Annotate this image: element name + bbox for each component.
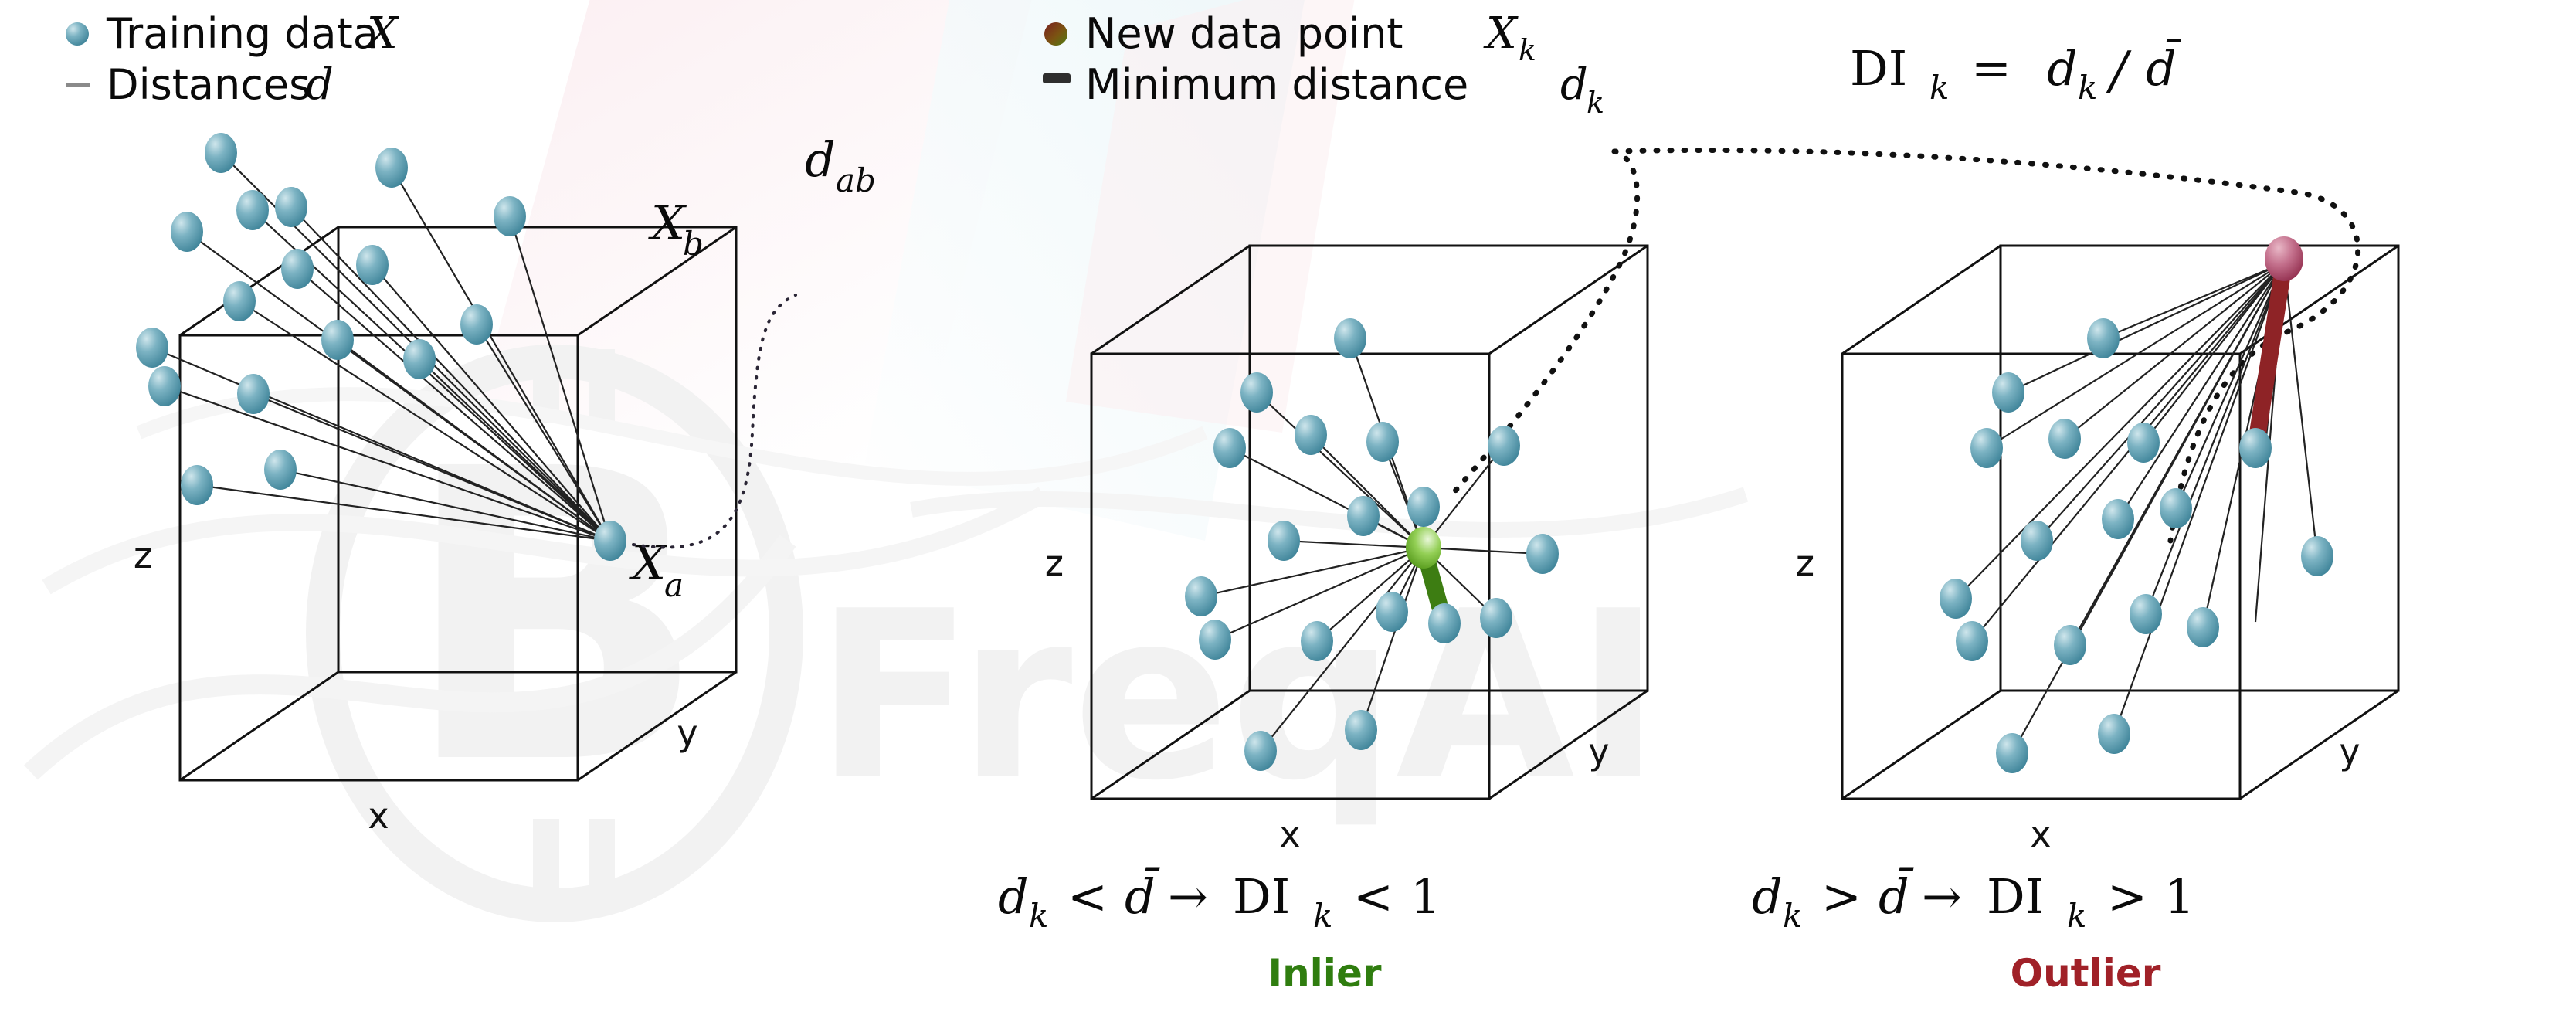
axis-label-z-panel3: z (1796, 542, 1814, 584)
label-xb-sub: b (683, 225, 704, 263)
legend-label-new-data-point: New data point (1085, 9, 1403, 58)
legend-symbol-training-data: X (364, 8, 399, 59)
caption-dbar-out: d̄ (1879, 867, 1914, 925)
axis-label-x-panel2: x (1279, 813, 1300, 855)
nearest-neighbor-point (1428, 603, 1461, 643)
axis-label-y-panel1: y (677, 712, 697, 754)
data-point (1240, 372, 1273, 413)
red-green-dot-icon (1044, 22, 1067, 46)
label-xa-sub: a (664, 566, 684, 604)
data-point (356, 245, 389, 285)
data-point (1295, 415, 1327, 455)
legend-item-distances[interactable]: Distances d (66, 59, 334, 110)
data-point (2301, 536, 2333, 576)
data-point (1992, 372, 2024, 413)
data-point (2048, 419, 2081, 459)
figure-root: B FreqAI Training data X Distances d (0, 0, 2576, 1022)
caption-relation-2-out: > (2107, 868, 2147, 925)
data-point (1244, 731, 1277, 771)
legend-item-training-data[interactable]: Training data X (66, 8, 399, 59)
data-point (1199, 620, 1231, 660)
legend-symbol-new-data-point: X (1483, 8, 1519, 59)
legend-label-training-data: Training data (106, 9, 378, 58)
label-xa: X (629, 535, 668, 591)
data-point (403, 339, 436, 379)
data-point (1956, 621, 1988, 661)
data-point (2098, 714, 2130, 754)
data-point (494, 196, 526, 236)
data-point (2160, 488, 2192, 528)
data-point (264, 450, 297, 490)
data-point (321, 320, 354, 360)
caption-dk-out-sub: k (1783, 897, 1802, 935)
data-point (1347, 496, 1380, 536)
caption-di-out-sub: k (2067, 897, 2086, 935)
caption-relation-2: < (1353, 868, 1393, 925)
data-point (2102, 499, 2134, 539)
data-point (136, 328, 168, 368)
data-point (1940, 579, 1972, 619)
axis-label-y-panel3: y (2339, 731, 2360, 772)
data-point (1268, 521, 1300, 561)
caption-relation-1-out: > (1821, 868, 1862, 925)
teal-dot-icon (66, 22, 89, 46)
data-point (1488, 426, 1520, 466)
caption-inlier: d k < d̄ → DI k < 1 Inlier (998, 867, 1441, 996)
caption-di-out: DI (1987, 868, 2044, 925)
reference-point-xa (594, 521, 626, 561)
axis-label-z-panel1: z (134, 535, 152, 576)
formula-di-denominator: d̄ (2146, 39, 2181, 97)
caption-arrow: → (1168, 868, 1208, 925)
data-point (205, 133, 237, 173)
caption-arrow-out: → (1922, 868, 1962, 925)
new-data-point-inlier (1406, 527, 1441, 569)
formula-di-lhs: DI (1850, 40, 1907, 97)
caption-dk-sub: k (1029, 897, 1048, 935)
label-dab: d (805, 131, 836, 188)
caption-one: 1 (1410, 868, 1441, 925)
data-point (275, 187, 307, 227)
caption-di-sub: k (1313, 897, 1332, 935)
data-point (236, 190, 269, 230)
data-point (1334, 318, 1366, 358)
data-point (1213, 428, 1246, 468)
formula-di-numerator: d (2047, 40, 2078, 97)
dotted-connector-inlier (1452, 151, 1638, 494)
caption-label-outlier: Outlier (2011, 951, 2161, 996)
axis-label-z-panel2: z (1045, 542, 1064, 584)
formula-di-lhs-sub: k (1929, 69, 1949, 107)
legend-label-minimum-distance: Minimum distance (1085, 60, 1468, 109)
legend-label-distances: Distances (107, 60, 311, 109)
data-point (1996, 733, 2028, 773)
legend-symbol-new-data-point-sub: k (1519, 33, 1536, 67)
formula-di-numerator-sub: k (2078, 69, 2097, 107)
data-point (2054, 625, 2086, 665)
data-point (148, 366, 181, 406)
caption-outlier: d k > d̄ → DI k > 1 Outlier (1752, 867, 2194, 996)
label-dab-sub: ab (836, 161, 876, 199)
dotted-connector-outlier (1614, 150, 2358, 541)
panel-outlier: z x y d k > d̄ → DI k > 1 Outlier (1752, 236, 2398, 996)
caption-dk-out: d (1752, 868, 1783, 925)
caption-dbar: d̄ (1125, 867, 1160, 925)
caption-dk: d (998, 868, 1029, 925)
data-point (1345, 710, 1377, 750)
legend-symbol-distances: d (306, 59, 334, 110)
axis-label-x-panel1: x (368, 795, 389, 837)
data-point (2187, 607, 2219, 647)
data-point (281, 249, 314, 289)
data-point (1301, 621, 1333, 661)
axis-label-x-panel3: x (2030, 813, 2051, 855)
data-point (181, 465, 213, 505)
data-point (2127, 423, 2160, 463)
data-point (1366, 422, 1399, 462)
data-point (460, 304, 493, 345)
formula-di-slash: / (2106, 41, 2132, 100)
distance-lines-outlier (1956, 263, 2317, 753)
caption-label-inlier: Inlier (1268, 951, 1381, 996)
data-point (1970, 428, 2003, 468)
legend-symbol-minimum-distance-sub: k (1587, 86, 1604, 120)
data-point (1526, 534, 1559, 574)
caption-relation-1: < (1067, 868, 1108, 925)
data-point (2021, 521, 2053, 561)
watermark-text: FreqAI (815, 562, 1661, 831)
data-point (1185, 576, 1217, 616)
data-point (1407, 487, 1440, 527)
data-point (1480, 598, 1512, 638)
data-point (2087, 318, 2120, 358)
caption-one-out: 1 (2164, 868, 2194, 925)
data-point (223, 281, 256, 321)
dark-dash-icon (1043, 73, 1071, 83)
data-point (171, 212, 203, 252)
axis-label-y-panel2: y (1588, 731, 1609, 772)
watermark-bitcoin-symbol: B (402, 384, 708, 852)
data-point (375, 148, 408, 188)
data-point (237, 374, 270, 414)
formula-di-equals: = (1971, 40, 2011, 97)
formula-di: DI k = d k / d̄ (1850, 39, 2181, 107)
data-point (2130, 594, 2162, 634)
data-point (1376, 592, 1408, 632)
caption-di: DI (1233, 868, 1290, 925)
legend-symbol-minimum-distance: d (1560, 59, 1588, 110)
label-xb: X (648, 195, 687, 251)
new-data-point-outlier (2265, 236, 2303, 281)
